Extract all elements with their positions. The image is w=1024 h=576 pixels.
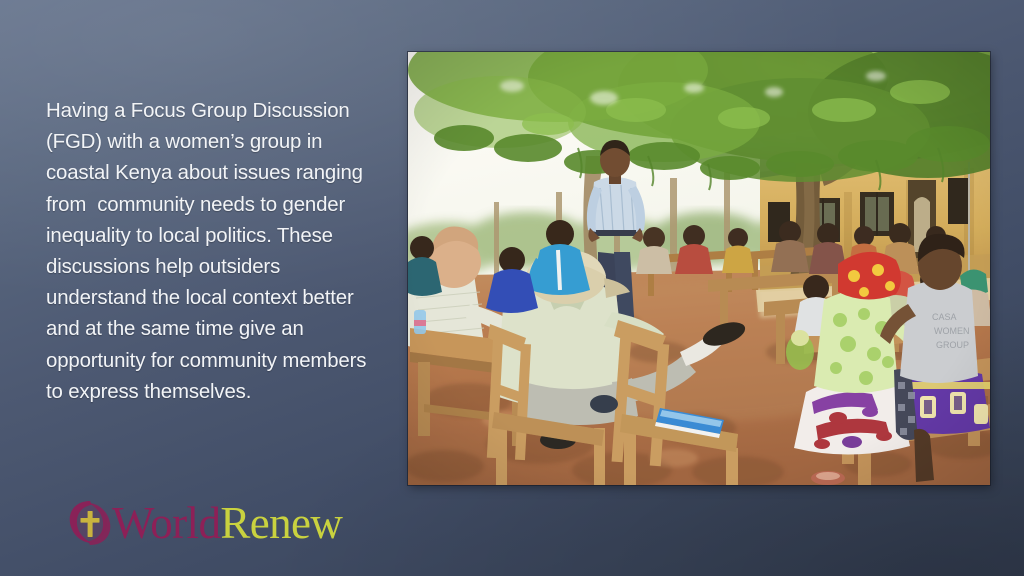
presentation-slide: Having a Focus Group Discussion (FGD) wi…: [0, 0, 1024, 576]
logo-word-world: World: [112, 498, 220, 548]
world-renew-logo: WorldRenew: [62, 492, 342, 554]
slide-caption-text: Having a Focus Group Discussion (FGD) wi…: [46, 96, 376, 408]
focus-group-discussion-photo: CASA WOMEN GROUP: [408, 52, 990, 485]
world-renew-swirl-cross-icon: [62, 495, 118, 551]
logo-word-renew: Renew: [220, 498, 342, 548]
logo-wordmark: WorldRenew: [112, 501, 342, 546]
